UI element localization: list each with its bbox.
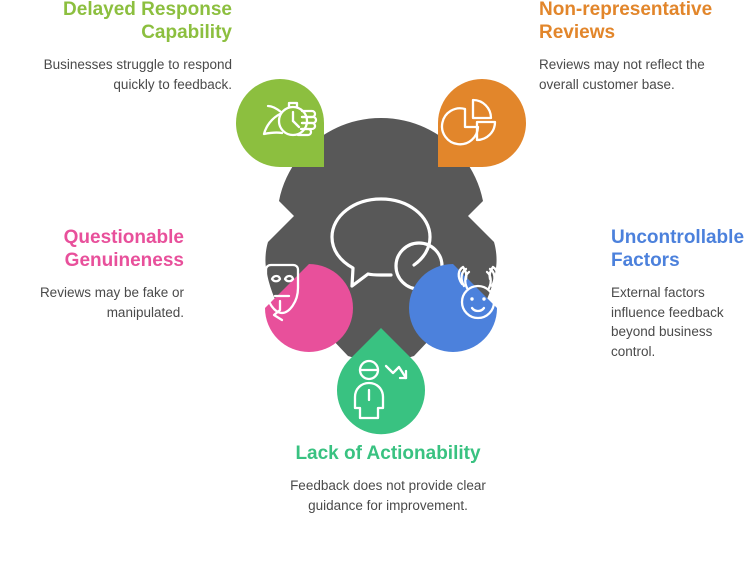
item-uncontrollable: Uncontrollable Factors External factors …: [611, 226, 751, 362]
item-heading-uncontrollable: Uncontrollable Factors: [611, 226, 751, 272]
item-body-delayed-response: Businesses struggle to respond quickly t…: [42, 55, 232, 94]
center-blob: [265, 118, 496, 361]
item-nonrepresentative: Non-representative Reviews Reviews may n…: [539, 0, 729, 94]
pin-questionable: [257, 264, 353, 352]
hand-stopwatch-icon: [264, 103, 316, 135]
item-body-lack-actionability: Feedback does not provide clear guidance…: [286, 476, 490, 515]
item-heading-nonrepresentative: Non-representative Reviews: [539, 0, 729, 44]
item-delayed-response: Delayed Response Capability Businesses s…: [42, 0, 232, 94]
stressed-face-icon: [459, 267, 498, 318]
pin-lack-actionability: [337, 328, 425, 434]
person-declining-arrow-icon: [355, 361, 406, 418]
speech-bubble-magnifier-icon: [332, 199, 450, 299]
pin-delayed-response: [236, 67, 395, 176]
theater-mask-icon: [257, 265, 298, 322]
item-body-nonrepresentative: Reviews may not reflect the overall cust…: [539, 55, 729, 94]
infographic-root: Delayed Response Capability Businesses s…: [0, 0, 752, 562]
pin-nonrepresentative: [438, 79, 526, 167]
item-questionable: Questionable Genuineness Reviews may be …: [8, 226, 184, 322]
center-graphic: [236, 70, 526, 430]
item-heading-delayed-response: Delayed Response Capability: [42, 0, 232, 44]
pin-uncontrollable: [409, 264, 497, 352]
pie-chart-icon: [442, 100, 495, 144]
item-body-questionable: Reviews may be fake or manipulated.: [8, 283, 184, 322]
item-body-uncontrollable: External factors influence feedback beyo…: [611, 283, 751, 361]
item-heading-lack-actionability: Lack of Actionability: [286, 442, 490, 465]
item-heading-questionable: Questionable Genuineness: [8, 226, 184, 272]
item-lack-actionability: Lack of Actionability Feedback does not …: [286, 442, 490, 515]
